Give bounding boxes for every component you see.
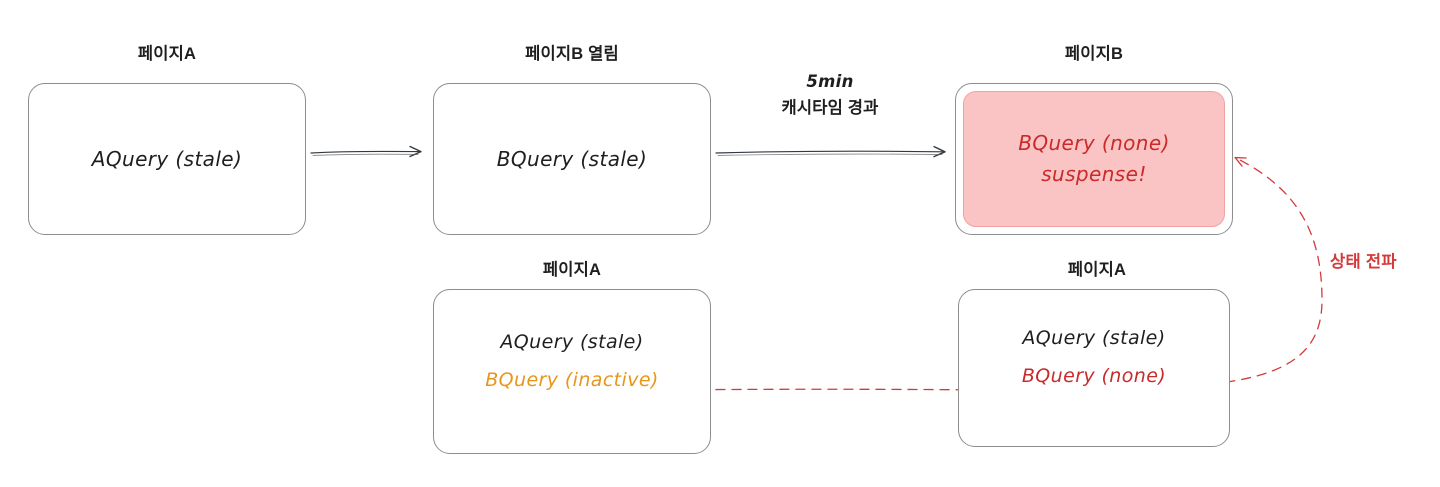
- arrow-page-b-to-suspense: [716, 151, 944, 155]
- node-line-bquery-none-2: BQuery (none): [1022, 364, 1166, 390]
- arrow-page-a-to-page-b: [311, 151, 420, 155]
- node-page-a-initial[interactable]: AQuery (stale): [28, 83, 306, 235]
- node-page-b-suspense[interactable]: BQuery (none) suspense!: [955, 83, 1233, 235]
- node-page-b-suspense-highlight: BQuery (none) suspense!: [963, 91, 1225, 227]
- node-line-aquery-stale-2: AQuery (stale): [500, 330, 643, 356]
- edge-label-cache-time: 5min 캐시타임 경과: [716, 72, 944, 118]
- edge-label-cache-time-en: 5min: [716, 72, 944, 91]
- diagram-canvas: 페이지A AQuery (stale) 페이지B 열림 BQuery (stal…: [0, 0, 1440, 487]
- node-page-b-opened[interactable]: BQuery (stale): [433, 83, 711, 235]
- node-line-bquery-stale: BQuery (stale): [497, 146, 647, 173]
- node-title-page-a-initial: 페이지A: [28, 40, 306, 64]
- arrow-inactive-to-none: [668, 389, 988, 390]
- node-line-aquery-stale-3: AQuery (stale): [1022, 326, 1165, 352]
- node-page-a-inactive[interactable]: AQuery (stale) BQuery (inactive): [433, 289, 711, 454]
- annotation-state-propagation: 상태 전파: [1330, 248, 1397, 272]
- edge-label-cache-time-ko: 캐시타임 경과: [716, 94, 944, 118]
- node-title-page-a-none: 페이지A: [958, 256, 1236, 280]
- node-line-bquery-none: BQuery (none): [1018, 130, 1170, 157]
- node-line-aquery-stale: AQuery (stale): [92, 146, 242, 173]
- node-line-suspense: suspense!: [1041, 161, 1147, 188]
- node-title-page-b-opened: 페이지B 열림: [433, 40, 711, 64]
- node-page-a-none[interactable]: AQuery (stale) BQuery (none): [958, 289, 1230, 447]
- node-title-page-b-suspense: 페이지B: [955, 40, 1233, 64]
- node-title-page-a-inactive: 페이지A: [433, 256, 711, 280]
- node-line-bquery-inactive: BQuery (inactive): [485, 368, 659, 394]
